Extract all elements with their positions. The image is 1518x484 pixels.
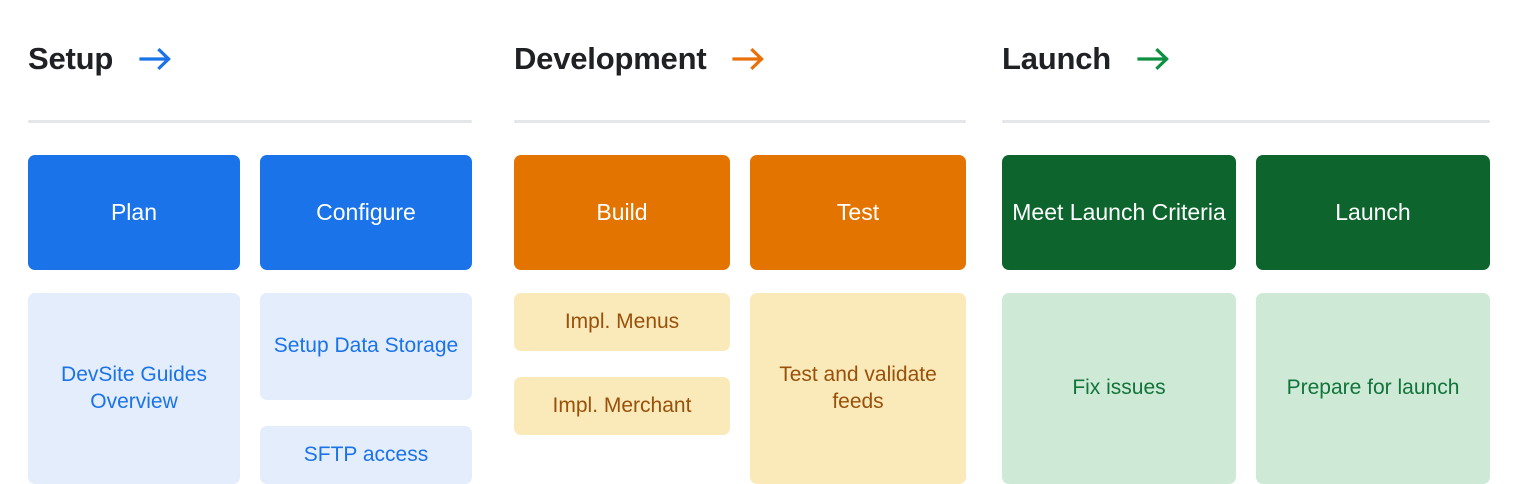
phase-column-launch: Launch Meet Launch Criteria Fix issues L… <box>988 0 1518 484</box>
phase-lanes-setup: Plan DevSite Guides Overview Configure S… <box>28 155 472 484</box>
primary-card-configure[interactable]: Configure <box>260 155 472 270</box>
phase-divider-launch <box>1002 120 1490 123</box>
phase-lanes-development: Build Impl. Menus Impl. Merchant Test Te… <box>514 155 966 484</box>
phase-header-launch: Launch <box>1002 36 1490 82</box>
sub-stack-meet-launch-criteria: Fix issues <box>1002 293 1236 484</box>
phase-column-development: Development Build Impl. Menus Impl. Merc… <box>494 0 988 484</box>
phase-title-setup: Setup <box>28 41 113 77</box>
arrow-right-icon <box>139 46 173 72</box>
sub-stack-plan: DevSite Guides Overview <box>28 293 240 484</box>
primary-card-meet-launch-criteria[interactable]: Meet Launch Criteria <box>1002 155 1236 270</box>
sub-card-setup-data-storage[interactable]: Setup Data Storage <box>260 293 472 400</box>
phase-lanes-launch: Meet Launch Criteria Fix issues Launch P… <box>1002 155 1490 484</box>
phase-header-development: Development <box>514 36 966 82</box>
primary-card-launch[interactable]: Launch <box>1256 155 1490 270</box>
phase-divider-development <box>514 120 966 123</box>
lane-configure: Configure Setup Data Storage SFTP access <box>260 155 472 484</box>
sub-stack-test: Test and validate feeds <box>750 293 966 484</box>
lane-test: Test Test and validate feeds <box>750 155 966 484</box>
lane-meet-launch-criteria: Meet Launch Criteria Fix issues <box>1002 155 1236 484</box>
sub-card-sftp-access[interactable]: SFTP access <box>260 426 472 484</box>
lane-plan: Plan DevSite Guides Overview <box>28 155 240 484</box>
sub-card-impl-merchant[interactable]: Impl. Merchant <box>514 377 730 435</box>
sub-card-impl-menus[interactable]: Impl. Menus <box>514 293 730 351</box>
sub-card-test-and-validate-feeds[interactable]: Test and validate feeds <box>750 293 966 484</box>
project-phases-board: Setup Plan DevSite Guides Overview Confi… <box>0 0 1518 484</box>
sub-card-devsite-guides-overview[interactable]: DevSite Guides Overview <box>28 293 240 484</box>
arrow-right-icon <box>732 46 766 72</box>
sub-stack-configure: Setup Data Storage SFTP access <box>260 293 472 484</box>
sub-card-fix-issues[interactable]: Fix issues <box>1002 293 1236 484</box>
primary-card-test[interactable]: Test <box>750 155 966 270</box>
sub-stack-build: Impl. Menus Impl. Merchant <box>514 293 730 484</box>
phase-header-setup: Setup <box>28 36 472 82</box>
sub-stack-launch: Prepare for launch <box>1256 293 1490 484</box>
sub-card-prepare-for-launch[interactable]: Prepare for launch <box>1256 293 1490 484</box>
primary-card-plan[interactable]: Plan <box>28 155 240 270</box>
arrow-right-icon <box>1137 46 1171 72</box>
phase-column-setup: Setup Plan DevSite Guides Overview Confi… <box>0 0 494 484</box>
lane-build: Build Impl. Menus Impl. Merchant <box>514 155 730 484</box>
phase-title-development: Development <box>514 41 706 77</box>
phase-title-launch: Launch <box>1002 41 1111 77</box>
lane-launch: Launch Prepare for launch <box>1256 155 1490 484</box>
primary-card-build[interactable]: Build <box>514 155 730 270</box>
phase-divider-setup <box>28 120 472 123</box>
